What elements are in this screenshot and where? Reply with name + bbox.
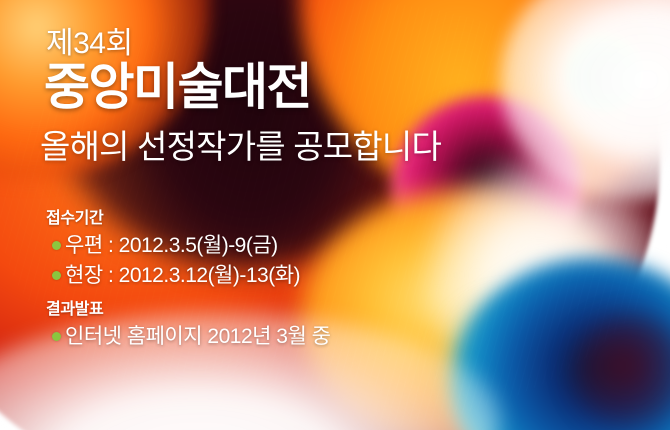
promo-banner: 제34회 중앙미술대전 올해의 선정작가를 공모합니다 접수기간 우편 : 20… [0,0,670,430]
application-period-onsite: 현장 : 2012.3.12(월)-13(화) [65,261,300,290]
results-announcement: 인터넷 홈페이지 2012년 3월 중 [65,322,330,351]
bullet-icon [52,332,61,341]
application-period-mail: 우편 : 2012.3.5(월)-9(금) [65,231,278,260]
banner-content: 제34회 중앙미술대전 올해의 선정작가를 공모합니다 접수기간 우편 : 20… [0,0,670,430]
banner-subtitle: 올해의 선정작가를 공모합니다 [40,126,441,168]
schedule-info: 접수기간 우편 : 2012.3.5(월)-9(금) 현장 : 2012.3.1… [46,208,446,352]
list-item: 현장 : 2012.3.12(월)-13(화) [46,261,446,290]
edition-kicker: 제34회 [46,26,133,62]
bullet-icon [52,241,61,250]
section-heading-application-period: 접수기간 [46,208,446,229]
list-item: 인터넷 홈페이지 2012년 3월 중 [46,322,446,351]
banner-title: 중앙미술대전 [44,58,311,116]
section-heading-results: 결과발표 [46,299,446,320]
bullet-icon [52,271,61,280]
list-item: 우편 : 2012.3.5(월)-9(금) [46,231,446,260]
